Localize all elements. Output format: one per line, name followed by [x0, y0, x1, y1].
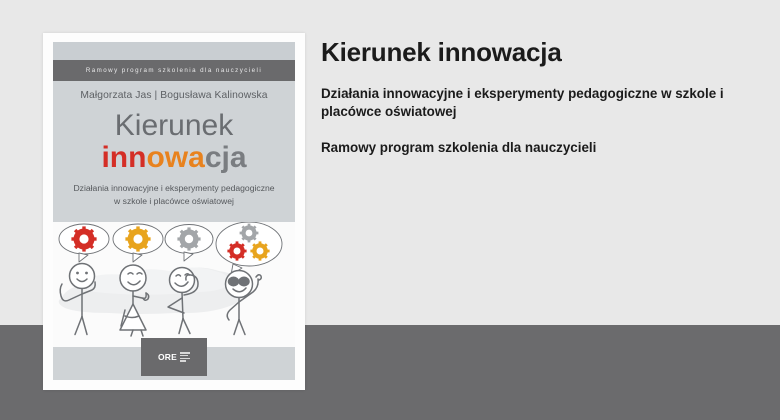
page-subtitle: Działania innowacyjne i eksperymenty ped…: [321, 85, 741, 121]
speech-bubble-2: [113, 224, 163, 262]
book-cover-panel: Ramowy program szkolenia dla nauczycieli…: [53, 42, 295, 380]
cover-title-segment-orange: owa: [146, 141, 204, 174]
cover-title-line-2: innowacja: [53, 142, 295, 174]
gear-icon-red-4b: [227, 241, 246, 260]
cover-illustration: [53, 222, 295, 347]
gear-icon-red-1: [71, 226, 96, 251]
cover-banner-text: Ramowy program szkolenia dla nauczycieli: [53, 60, 295, 81]
bubble-tail-1: [79, 253, 88, 262]
speech-bubble-1: [59, 224, 109, 262]
cover-subtitle-line-1: Działania innowacyjne i eksperymenty ped…: [65, 182, 283, 195]
page-stage: Ramowy program szkolenia dla nauczycieli…: [0, 0, 780, 420]
gear-icon-gray-3: [177, 227, 200, 250]
cover-subtitle-line-2: w szkole i placówce oświatowej: [65, 195, 283, 208]
ore-publisher-logo: ORE: [141, 338, 207, 376]
speech-bubble-3: [165, 225, 213, 262]
gear-icon-orange-2: [125, 226, 150, 251]
bubble-tail-2: [133, 253, 142, 262]
text-panel: Kierunek innowacja Działania innowacyjne…: [321, 38, 761, 157]
cover-authors: Małgorzata Jas | Bogusława Kalinowska: [53, 90, 295, 101]
stick-figures-illustration: [53, 222, 295, 347]
ore-logo-lines-icon: [180, 352, 190, 361]
cover-subtitle: Działania innowacyjne i eksperymenty ped…: [65, 182, 283, 209]
speech-bubble-4: [216, 222, 282, 275]
cover-title-line-1: Kierunek: [53, 110, 295, 142]
cover-title-segment-red: inn: [101, 141, 146, 174]
ore-logo-text: ORE: [158, 352, 177, 362]
program-line: Ramowy program szkolenia dla nauczycieli: [321, 139, 761, 157]
book-cover-card: Ramowy program szkolenia dla nauczycieli…: [43, 33, 305, 390]
gear-icon-gray-4a: [240, 224, 259, 243]
cover-title-segment-gray: cja: [205, 141, 247, 174]
page-title: Kierunek innowacja: [321, 38, 761, 67]
gear-icon-orange-4c: [250, 241, 269, 260]
bubble-tail-3: [184, 252, 193, 261]
cover-top-strip: [53, 42, 295, 60]
